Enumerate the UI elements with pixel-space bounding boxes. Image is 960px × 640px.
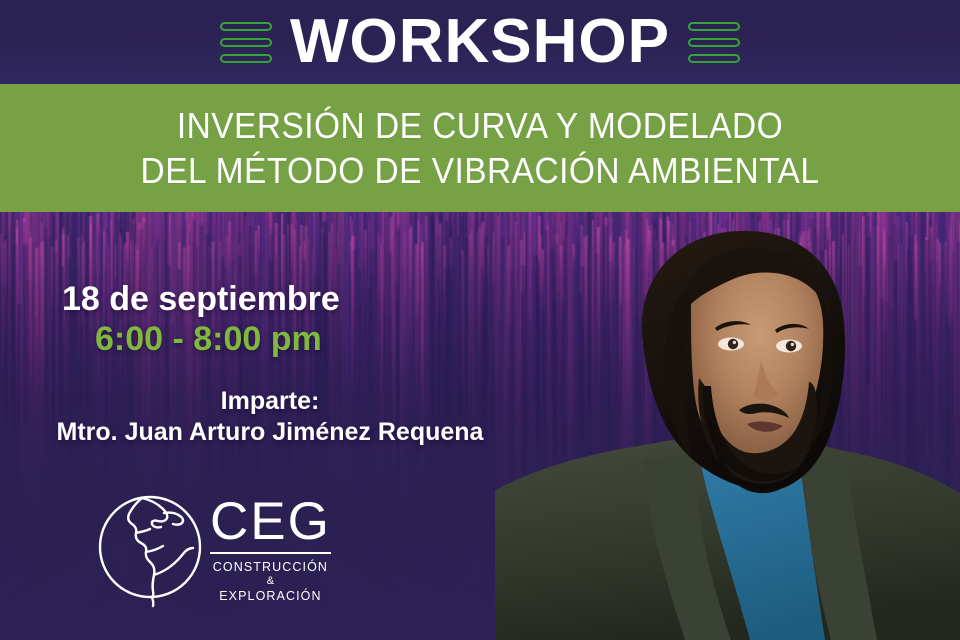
speaker-label: Imparte:: [0, 386, 540, 417]
logo-acronym: CEG: [210, 496, 331, 548]
title-line-2: DEL MÉTODO DE VIBRACIÓN AMBIENTAL: [141, 148, 820, 193]
page-title: WORKSHOP: [286, 11, 674, 73]
speaker-block: Imparte: Mtro. Juan Arturo Jiménez Reque…: [0, 386, 540, 449]
header-row: WORKSHOP: [0, 0, 960, 84]
header-bar: WORKSHOP: [0, 0, 960, 84]
logo-subtitle-line-1: CONSTRUCCIÓN: [213, 559, 328, 575]
event-time: 6:00 - 8:00 pm: [95, 320, 520, 358]
speaker-name: Mtro. Juan Arturo Jiménez Requena: [0, 417, 540, 448]
date-time-block: 18 de septiembre 6:00 - 8:00 pm: [0, 280, 520, 358]
title-line-1: INVERSIÓN DE CURVA Y MODELADO: [177, 103, 783, 148]
workshop-poster: WORKSHOP INVERSIÓN DE CURVA Y MODELADO D…: [0, 0, 960, 640]
logo-ampersand: &: [267, 575, 274, 588]
speaker-photo: [495, 210, 960, 640]
logo-subtitle-line-2: EXPLORACIÓN: [219, 588, 321, 604]
title-band: INVERSIÓN DE CURVA Y MODELADO DEL MÉTODO…: [0, 84, 960, 212]
ceg-logo: CEG CONSTRUCCIÓN & EXPLORACIÓN: [96, 482, 366, 612]
bars-right-icon: [688, 22, 740, 63]
globe-icon: [96, 485, 204, 609]
logo-wordmark: CEG CONSTRUCCIÓN & EXPLORACIÓN: [210, 490, 331, 604]
logo-divider: [210, 552, 331, 554]
bars-left-icon: [220, 22, 272, 63]
event-date: 18 de septiembre: [62, 280, 520, 318]
